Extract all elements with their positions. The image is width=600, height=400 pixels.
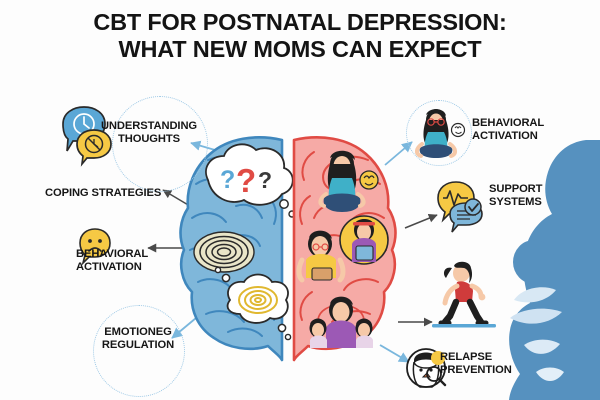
walking-woman-exercise-icon (428, 258, 498, 330)
label-understanding-thoughts-line1: UNDERSTANDING (101, 120, 197, 132)
label-support-systems-line1: SUPPORT (489, 183, 542, 195)
woman-with-tablet (340, 216, 388, 264)
label-understanding-thoughts-line2: THOUGHTS (118, 133, 180, 145)
label-support-systems: SUPPORT SYSTEMS (489, 183, 542, 209)
brain-right-hemisphere (294, 137, 395, 360)
label-relapse-prevention-line2: PREVENTION (440, 364, 512, 376)
label-behavioral-activation-left-line1: BEHAVIORAL (76, 248, 148, 260)
label-emotioneg-regulation-line1: EMOTIONEG (104, 326, 171, 338)
support-bubbles-icon (432, 180, 488, 236)
label-behavioral-activation-right: BEHAVIORAL ACTIVATION (472, 117, 544, 143)
label-coping-strategies-text: COPING STRATEGIES (45, 187, 161, 199)
meditating-woman-icon (410, 104, 466, 160)
svg-text:?: ? (220, 166, 235, 194)
label-behavioral-activation-right-line1: BEHAVIORAL (472, 117, 544, 129)
label-relapse-prevention-line1: RELAPSE (440, 351, 492, 363)
label-emotioneg-regulation-line2: REGULATION (102, 339, 174, 351)
label-behavioral-activation-right-line2: ACTIVATION (472, 130, 538, 142)
label-relapse-prevention: RELAPSE PREVENTION (440, 351, 512, 377)
spiral-confusion-large (194, 232, 254, 272)
svg-text:?: ? (258, 167, 272, 193)
label-behavioral-activation-left: BEHAVIORAL ACTIVATION (76, 248, 148, 274)
label-emotioneg-regulation: EMOTIONEG REGULATION (96, 326, 180, 352)
label-coping-strategies: COPING STRATEGIES (45, 187, 161, 200)
label-support-systems-line2: SYSTEMS (489, 196, 542, 208)
svg-text:?: ? (236, 162, 256, 199)
infographic-canvas: CBT FOR POSTNATAL DEPRESSION: WHAT NEW M… (0, 0, 600, 400)
label-understanding-thoughts: UNDERSTANDING THOUGHTS (96, 120, 202, 146)
label-behavioral-activation-left-line2: ACTIVATION (76, 261, 142, 273)
split-brain-illustration: ? ? ? (178, 132, 398, 370)
